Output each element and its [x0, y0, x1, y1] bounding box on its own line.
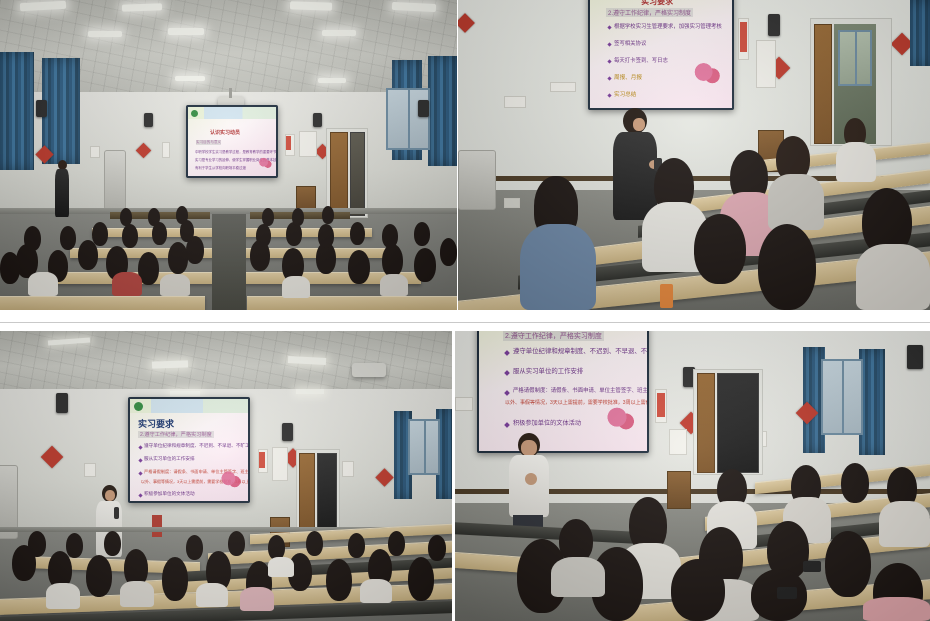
door-opening — [317, 453, 337, 531]
door-window — [838, 30, 872, 86]
center-aisle — [212, 214, 246, 310]
panel-bottom-right: 2.遵守工作纪律，严格实习制度 遵守单位纪律和规章制度、不迟到、不早退、不旷工 … — [455, 331, 930, 621]
slide-decoration — [605, 406, 635, 433]
slide-surface: 2.遵守工作纪律，严格实习制度 遵守单位纪律和规章制度、不迟到、不早退、不旷工 … — [479, 331, 647, 451]
slide-line: 服从实习单位的工作安排 — [513, 366, 583, 375]
standing-presenter — [55, 160, 69, 218]
student-head — [0, 252, 20, 284]
slide-line: 每天打卡签到、写日志 — [614, 56, 668, 64]
slide-line: 遵守单位纪律和规章制度、不迟到、不早退、不旷工 — [144, 443, 248, 449]
student-head — [382, 244, 403, 277]
speaker-left — [36, 100, 47, 117]
student-head — [758, 224, 816, 310]
student-head — [92, 222, 108, 246]
window-right — [821, 359, 863, 435]
curtain-right-b — [428, 56, 457, 166]
slide-bullet-icon — [138, 445, 142, 449]
panel-top-left: 认识实习动员 实习目的与意义 中职学校学生实习是教学过程，是教育教学的重要环节 … — [0, 0, 457, 310]
student-torso — [196, 583, 228, 607]
speaker-mid-right — [313, 113, 322, 127]
slide-line: 严格请假制度：请假条、书面申请、单位主管签字、班主任审核同意 — [513, 386, 647, 394]
door-notice — [342, 461, 354, 477]
phone-on-desk[interactable] — [660, 284, 673, 308]
student-torso — [240, 587, 274, 611]
student-head — [86, 555, 112, 597]
projector — [352, 363, 386, 377]
slide-subtitle: 2.遵守工作纪律，严格实习制度 — [138, 431, 214, 438]
wall-sign-small — [550, 82, 576, 92]
student-torso — [160, 274, 190, 296]
slide-line-highlight: 实习总结 — [614, 90, 636, 98]
phone-on-desk[interactable] — [777, 587, 797, 599]
slide-title: 实习要求 — [641, 0, 673, 7]
slide-line: 有利于学生从学校向职场平稳过渡 — [195, 165, 246, 170]
slide-bullet-icon — [607, 93, 611, 97]
student-head — [186, 535, 203, 560]
standing-presenter — [509, 433, 549, 531]
presenter-body — [55, 169, 69, 217]
window-right — [408, 419, 440, 475]
student-torso — [120, 581, 154, 607]
student-torso — [863, 597, 930, 621]
classroom-door[interactable] — [697, 373, 715, 473]
slide-subtitle: 2.遵守工作纪律，严格实习制度 — [503, 331, 604, 341]
ceiling-light — [322, 30, 356, 36]
slide-decoration — [692, 62, 720, 87]
fire-extinguisher-box — [152, 515, 162, 537]
slide-title: 认识实习动员 — [210, 129, 240, 136]
desk-row — [0, 296, 205, 310]
slide-subtitle: 实习目的与意义 — [196, 140, 221, 145]
slide-surface: 实习要求 2.遵守工作纪律，严格实习制度 遵守单位纪律和规章制度、不迟到、不早退… — [130, 399, 248, 501]
student-head — [262, 208, 274, 226]
ceiling-light — [318, 78, 346, 83]
curtain-left-a — [0, 52, 34, 170]
wall-poster-red — [259, 452, 265, 468]
slide-line: 中职学校学生实习是教学过程，是教育教学的重要环节 — [195, 149, 276, 154]
presenter-hand — [525, 473, 537, 485]
window-right — [386, 88, 430, 150]
slide-decoration — [258, 157, 272, 171]
slide-bullet-icon — [607, 76, 611, 80]
slide-logo — [191, 110, 198, 117]
student-torso — [112, 272, 142, 296]
student-head — [694, 214, 746, 284]
door-opening — [350, 132, 365, 216]
presenter-face — [105, 490, 115, 501]
slide-bullet-icon — [607, 42, 611, 46]
student-head — [350, 222, 365, 245]
slide-logo — [134, 402, 143, 411]
student-head — [168, 242, 188, 274]
wall-sign-small — [455, 397, 473, 411]
student-head — [28, 531, 46, 557]
student-torso — [856, 244, 930, 310]
student-head — [825, 531, 871, 597]
projection-screen: 认识实习动员 实习目的与意义 中职学校学生实习是教学过程，是教育教学的重要环节 … — [186, 105, 278, 178]
slide-line: 积极参加单位的文体活动 — [144, 491, 195, 497]
wall-poster-a — [162, 142, 170, 158]
wall-notice — [756, 40, 776, 88]
wall-poster-red — [740, 22, 747, 52]
student-head — [176, 206, 188, 224]
speaker-right — [418, 100, 429, 117]
slide-bullet-icon — [138, 458, 142, 462]
slide-line: 服从实习单位的工作安排 — [144, 456, 195, 462]
wall-notice — [669, 429, 687, 455]
photo-collage: 认识实习动员 实习目的与意义 中职学校学生实习是教学过程，是教育教学的重要环节 … — [0, 0, 930, 621]
student-head — [148, 208, 160, 226]
student-head — [66, 533, 83, 558]
wall-speaker-right — [907, 345, 923, 369]
microphone[interactable] — [114, 507, 119, 519]
student-torso — [268, 557, 294, 577]
student-head — [671, 559, 725, 621]
student-head — [228, 531, 245, 556]
slide-bullet-icon — [138, 471, 142, 475]
ceiling-light — [290, 1, 332, 10]
student-head — [408, 557, 434, 601]
student-torso — [879, 501, 930, 547]
power-outlet — [504, 198, 520, 208]
door-opening — [717, 373, 759, 473]
student-head — [120, 208, 132, 226]
curtain-right — [910, 0, 930, 66]
slide-bullet-icon — [504, 350, 510, 356]
presenter-body — [613, 132, 657, 220]
wall-sign — [84, 463, 96, 477]
ceiling-light — [296, 389, 324, 394]
presenter-face — [521, 440, 537, 456]
slide-surface: 实习要求 2.遵守工作纪律，严格实习制度 根据学校实习生管理要求，加强实习管理考… — [590, 0, 732, 108]
wall-sign-small — [504, 96, 526, 108]
student-torso — [768, 174, 824, 230]
student-head — [322, 206, 334, 224]
air-conditioner — [104, 150, 126, 210]
classroom-door[interactable] — [814, 24, 832, 144]
student-torso — [520, 224, 596, 310]
speaker-mid-left — [144, 113, 153, 127]
student-torso — [380, 274, 408, 296]
wall-speaker-right — [282, 423, 293, 441]
student-torso — [28, 272, 58, 296]
projector-mount — [229, 88, 232, 98]
slide-bullet-icon — [504, 422, 510, 428]
student-head — [318, 224, 334, 248]
ceiling-light — [175, 76, 205, 81]
projection-screen: 实习要求 2.遵守工作纪律，严格实习制度 遵守单位纪律和规章制度、不迟到、不早退… — [128, 397, 250, 503]
slide-decoration — [220, 470, 241, 490]
student-torso — [46, 583, 80, 609]
slide-line-highlight: 以外、事假等情况，3天以上需提前，需要学校批准，3周以上需休学、需要请假 — [505, 399, 647, 406]
slide-bullet-icon — [138, 493, 142, 497]
slide-line: 根据学校实习生管理要求，加强实习管理考核 — [614, 22, 722, 30]
student-head — [348, 533, 365, 558]
ceiling-light — [168, 28, 204, 35]
presenter-body — [509, 455, 549, 517]
wall-poster-red — [657, 393, 665, 417]
standing-presenter — [613, 108, 657, 220]
panel-top-right: 实习要求 2.遵守工作纪律，严格实习制度 根据学校实习生管理要求，加强实习管理考… — [458, 0, 930, 310]
projection-screen: 2.遵守工作纪律，严格实习制度 遵守单位纪律和规章制度、不迟到、不早退、不旷工 … — [477, 331, 649, 453]
slide-line: 积极参加单位的文体活动 — [513, 418, 581, 427]
student-head — [841, 463, 869, 503]
wall-notice-board — [272, 447, 288, 481]
student-head — [24, 226, 41, 251]
slide-line: 签写相关协议 — [614, 39, 646, 47]
slide-subtitle: 2.遵守工作纪律，严格实习制度 — [606, 8, 693, 17]
student-head — [122, 224, 138, 248]
student-head — [388, 531, 405, 556]
slide-line-highlight: 周报、月报 — [614, 73, 642, 81]
slide-bullet-icon — [504, 390, 510, 396]
row-divider — [0, 322, 930, 323]
wall-panel — [458, 150, 496, 210]
student-head — [414, 222, 430, 246]
presenter-face — [633, 118, 645, 131]
phone-on-desk[interactable] — [803, 561, 821, 572]
wall-speaker-left — [56, 393, 68, 413]
student-head — [292, 208, 304, 226]
projection-screen: 实习要求 2.遵守工作纪律，严格实习制度 根据学校实习生管理要求，加强实习管理考… — [588, 0, 734, 110]
slide-line: 遵守单位纪律和规章制度、不迟到、不早退、不旷工 — [513, 346, 647, 355]
slide-header-band — [130, 399, 248, 413]
wall-sign — [90, 146, 100, 158]
student-torso — [551, 557, 605, 597]
slide-bullet-icon — [504, 370, 510, 376]
slide-bullet-icon — [607, 59, 611, 63]
student-head — [382, 224, 398, 248]
slide-surface: 认识实习动员 实习目的与意义 中职学校学生实习是教学过程，是教育教学的重要环节 … — [188, 107, 276, 176]
ceiling-light — [170, 391, 200, 396]
slide-title: 实习要求 — [138, 417, 174, 430]
student-head — [326, 559, 352, 601]
panel-bottom-left: 实习要求 2.遵守工作纪律，严格实习制度 遵守单位纪律和规章制度、不迟到、不早退… — [0, 331, 452, 621]
wall-poster-red — [286, 136, 291, 150]
slide-bullet-icon — [607, 25, 611, 29]
ceiling-light — [152, 360, 188, 368]
student-torso — [836, 142, 876, 182]
podium — [667, 471, 691, 509]
wall-speaker — [768, 14, 780, 36]
student-head — [256, 224, 271, 247]
student-head — [104, 531, 121, 556]
student-torso — [360, 579, 392, 603]
ceiling-light — [122, 3, 162, 11]
wall-notice-board — [299, 131, 317, 157]
student-head — [428, 535, 446, 561]
student-head — [60, 226, 76, 250]
student-head — [348, 250, 370, 284]
student-head — [440, 238, 457, 266]
student-head — [162, 557, 188, 601]
classroom-door[interactable] — [330, 132, 348, 216]
ceiling-light — [88, 31, 122, 37]
classroom-door[interactable] — [299, 453, 315, 531]
student-torso — [282, 276, 310, 298]
slide-header-band — [188, 107, 276, 119]
student-head — [306, 531, 323, 556]
desk-row — [247, 296, 457, 310]
student-head — [414, 248, 436, 282]
